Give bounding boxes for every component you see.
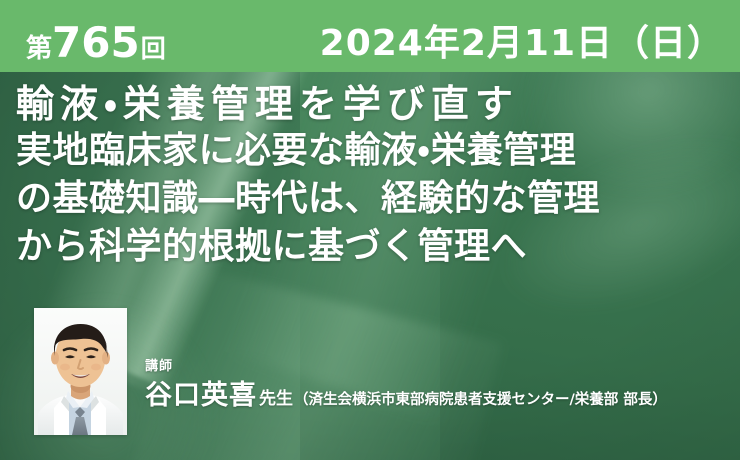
- speaker-honorific: 先生: [259, 391, 293, 408]
- edition-prefix: 第: [26, 34, 51, 64]
- speaker-portrait: [34, 308, 127, 435]
- portrait-illustration: [34, 308, 127, 435]
- title-main: 輸液・栄養管理を学び直す: [16, 82, 728, 127]
- speaker-name-line: 谷口英喜 先生 （済生会横浜市東部病院患者支援センター/栄養部 部長）: [145, 382, 667, 409]
- edition-suffix: 回: [141, 34, 166, 63]
- speaker-role-label: 講師: [145, 360, 667, 373]
- title-block: 輸液・栄養管理を学び直す 実地臨床家に必要な輸液・栄養管理 の基礎知識―時代は、…: [16, 82, 728, 270]
- title-subtitle-line-3: から科学的根拠に基づく管理へ: [16, 223, 728, 271]
- title-subtitle-line-2: の基礎知識―時代は、経験的な管理: [16, 175, 728, 223]
- header-band: 第765回 2024年2月11日（日）: [0, 0, 740, 72]
- title-subtitle-line-1: 実地臨床家に必要な輸液・栄養管理: [16, 127, 728, 175]
- edition-label: 第765回: [26, 22, 166, 64]
- seminar-banner: 第765回 2024年2月11日（日） 輸液・栄養管理を学び直す 実地臨床家に必…: [0, 0, 740, 460]
- speaker-block: 講師 谷口英喜 先生 （済生会横浜市東部病院患者支援センター/栄養部 部長）: [34, 308, 667, 435]
- speaker-name: 谷口英喜: [145, 382, 257, 409]
- speaker-info: 講師 谷口英喜 先生 （済生会横浜市東部病院患者支援センター/栄養部 部長）: [145, 360, 667, 435]
- edition-number: 765: [52, 18, 140, 67]
- speaker-affiliation: （済生会横浜市東部病院患者支援センター/栄養部 部長）: [294, 393, 667, 408]
- event-date: 2024年2月11日（日）: [320, 26, 724, 62]
